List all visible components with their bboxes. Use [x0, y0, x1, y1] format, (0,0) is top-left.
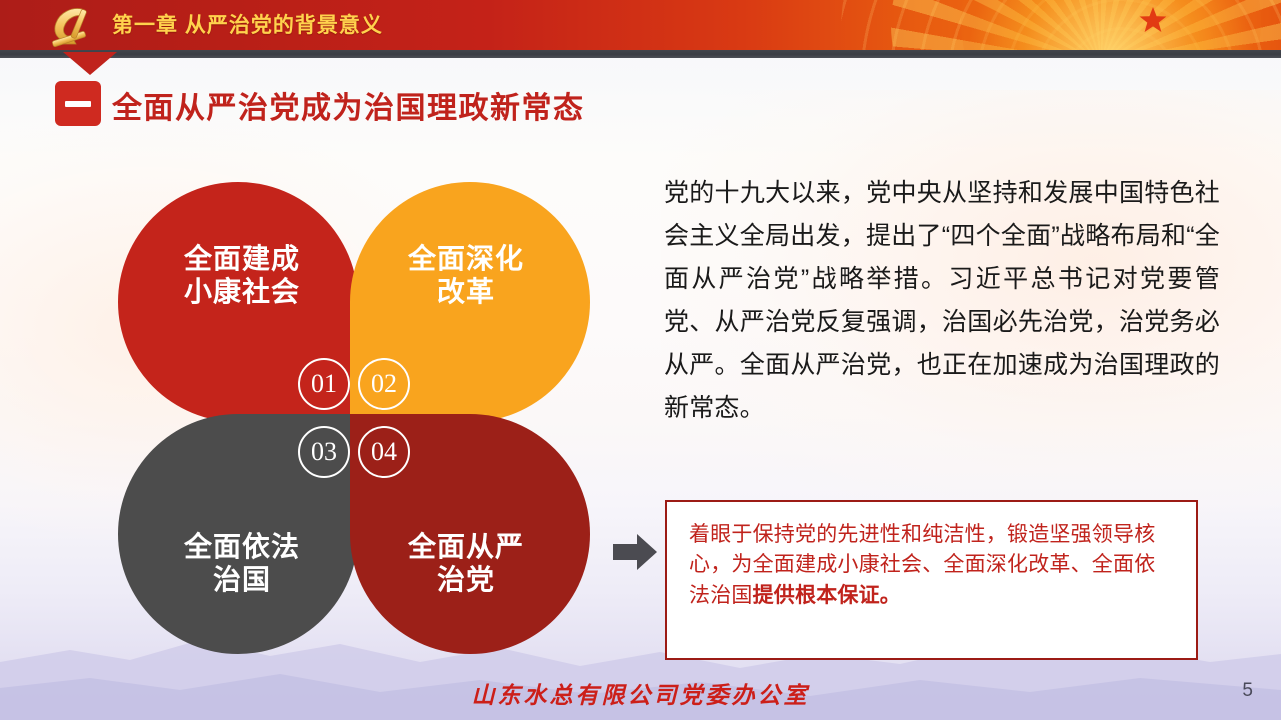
callout-text-bold: 提供根本保证。: [753, 584, 901, 607]
slide-header: 第一章 从严治党的背景意义: [0, 0, 1281, 50]
petal-congyan[interactable]: 全面从严治党 04: [350, 414, 590, 654]
petal-gaige[interactable]: 全面深化改革 02: [350, 182, 590, 422]
petal-yifa[interactable]: 全面依法治国 03: [118, 414, 358, 654]
section-number-mark: [65, 101, 91, 107]
right-arrow-icon: [611, 532, 659, 572]
page-number: 5: [1242, 680, 1253, 702]
petal-number: 01: [298, 358, 350, 410]
main-paragraph: 党的十九大以来，党中央从坚持和发展中国特色社会主义全局出发，提出了“四个全面”战…: [664, 172, 1220, 430]
footer-organization: 山东水总有限公司党委办公室: [0, 676, 1281, 710]
hammer-sickle-emblem: [36, 3, 100, 49]
callout-text: 着眼于保持党的先进性和纯洁性，锻造坚强领导核心，为全面建成小康社会、全面深化改革…: [689, 520, 1176, 611]
petal-xiaokang[interactable]: 全面建成小康社会 01: [118, 182, 358, 422]
section-title: 全面从严治党成为治国理政新常态: [112, 83, 585, 127]
header-sun-glow: [961, 0, 1261, 50]
header-bottom-strip: [0, 50, 1281, 58]
red-star-icon: [1138, 5, 1168, 35]
petal-label: 全面建成小康社会: [122, 242, 362, 308]
conclusion-callout-box: 着眼于保持党的先进性和纯洁性，锻造坚强领导核心，为全面建成小康社会、全面深化改革…: [665, 500, 1198, 660]
petal-number: 03: [298, 426, 350, 478]
slide-canvas: 第一章 从严治党的背景意义 全面从严治党成为治国理政新常态 全面建成小康社会 0…: [0, 0, 1281, 720]
petal-label: 全面依法治国: [122, 530, 362, 596]
four-comprehensives-clover: 全面建成小康社会 01 全面深化改革 02 全面依法治国 03 全面从严治党 0…: [118, 182, 588, 652]
petal-number: 02: [358, 358, 410, 410]
petal-label: 全面深化改革: [346, 242, 586, 308]
section-caret-icon: [63, 52, 117, 75]
petal-label: 全面从严治党: [346, 530, 586, 596]
section-number-badge: [55, 81, 101, 126]
petal-number: 04: [358, 426, 410, 478]
header-chapter-title: 第一章 从严治党的背景意义: [112, 9, 383, 39]
